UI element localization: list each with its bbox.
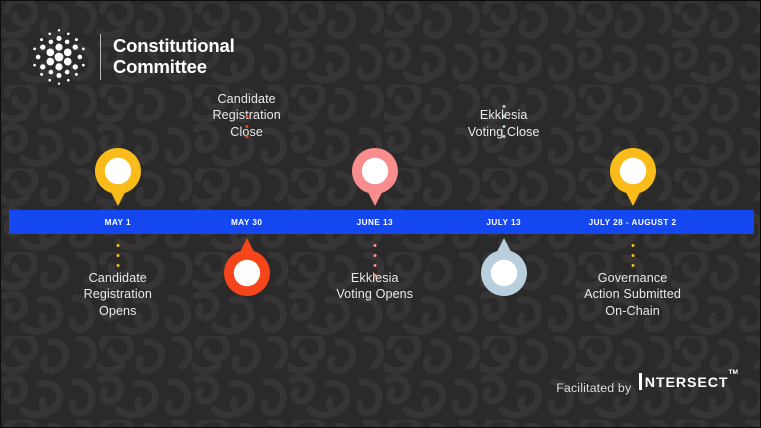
- connector-dot: [245, 135, 248, 138]
- milestone-connector-dots: [245, 111, 248, 142]
- connector-dot: [631, 254, 634, 257]
- connector-dot: [116, 244, 119, 247]
- intersect-logo: NTERSECT TM: [639, 375, 738, 392]
- map-pin-up-icon: [481, 238, 527, 296]
- connector-dot: [502, 125, 505, 128]
- connector-dot: [502, 115, 505, 118]
- milestone-caption: Candidate Registration Opens: [84, 270, 152, 319]
- trademark-symbol: TM: [728, 369, 738, 376]
- map-pin-down-icon: [352, 148, 398, 206]
- connector-dot: [245, 115, 248, 118]
- timeline-date-label: MAY 30: [231, 210, 262, 234]
- milestone-connector-dots: [502, 101, 505, 142]
- map-pin-down-icon: [95, 148, 141, 206]
- intersect-wordmark: NTERSECT: [645, 375, 729, 391]
- connector-dot: [116, 264, 119, 267]
- milestone-caption: Governance Action Submitted On-Chain: [584, 270, 681, 319]
- connector-dot: [631, 244, 634, 247]
- connector-dot: [373, 264, 376, 267]
- timeline-slide: Constitutional Committee Candidate Regis…: [0, 0, 761, 428]
- footer-credit: Facilitated by NTERSECT TM: [556, 375, 738, 395]
- timeline-date-label: JULY 13: [486, 210, 521, 234]
- timeline-date-label: MAY 1: [105, 210, 131, 234]
- intersect-bar-icon: [639, 373, 642, 390]
- cardano-dots-logo-icon: [30, 28, 88, 86]
- timeline-date-label: JULY 28 - AUGUST 2: [589, 210, 677, 234]
- map-pin-down-icon: [610, 148, 656, 206]
- connector-dot: [502, 105, 505, 108]
- logo-divider: [100, 34, 101, 80]
- connector-dot: [373, 274, 376, 277]
- milestone-connector-dots: [116, 240, 119, 271]
- brand-header: Constitutional Committee: [30, 28, 235, 86]
- connector-dot: [373, 244, 376, 247]
- timeline-bar: MAY 1MAY 30JUNE 13JULY 13JULY 28 - AUGUS…: [9, 210, 754, 234]
- facilitated-by-label: Facilitated by: [556, 381, 631, 395]
- timeline-date-label: JUNE 13: [357, 210, 393, 234]
- milestone-connector-dots: [631, 240, 634, 271]
- connector-dot: [373, 254, 376, 257]
- page-title: Constitutional Committee: [113, 36, 235, 77]
- milestone-connector-dots: [373, 240, 376, 281]
- connector-dot: [631, 264, 634, 267]
- connector-dot: [245, 125, 248, 128]
- connector-dot: [502, 135, 505, 138]
- map-pin-up-icon: [224, 238, 270, 296]
- connector-dot: [116, 254, 119, 257]
